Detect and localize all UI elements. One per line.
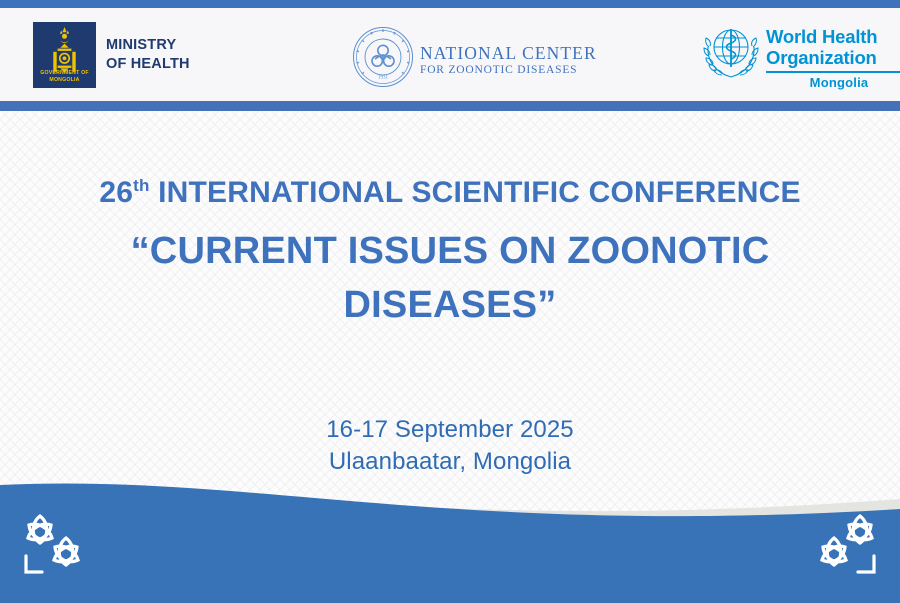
seal-year: 1931	[378, 76, 389, 81]
conference-line-label: INTERNATIONAL SCIENTIFIC CONFERENCE	[150, 176, 801, 209]
who-country-label: Mongolia	[766, 75, 900, 90]
ministry-emblem-caption-line2: MONGOLIA	[33, 77, 96, 84]
who-name-line1: World Health	[766, 26, 900, 47]
national-center-zoonotic-diseases-logo: 1931 NATIONAL CENTER FOR ZOONOTIC DISEAS…	[352, 26, 597, 93]
national-center-name-line2: FOR ZOONOTIC DISEASES	[420, 63, 597, 77]
mongolia-soyombo-emblem-icon: GOVERNMENT OF MONGOLIA	[33, 22, 96, 88]
title-block: 26th INTERNATIONAL SCIENTIFIC CONFERENCE…	[0, 172, 900, 332]
wave-blue-shape	[0, 483, 900, 603]
ministry-emblem-caption-line1: GOVERNMENT OF	[33, 70, 96, 77]
who-wordmark: World Health Organization Mongolia	[766, 23, 900, 90]
conference-title-slide: GOVERNMENT OF MONGOLIA MINISTRY OF HEALT…	[0, 0, 900, 603]
bottom-wave-decoration	[0, 463, 900, 603]
who-mongolia-logo: World Health Organization Mongolia	[702, 23, 900, 90]
who-rod-of-asclepius-emblem-icon	[702, 23, 760, 86]
ministry-of-health-name: MINISTRY OF HEALTH	[106, 36, 190, 74]
header-divider-bar	[0, 101, 900, 111]
event-dates: 16-17 September 2025	[0, 414, 900, 446]
conference-number-line: 26th INTERNATIONAL SCIENTIFIC CONFERENCE	[0, 172, 900, 214]
ministry-of-health-logo: GOVERNMENT OF MONGOLIA MINISTRY OF HEALT…	[33, 22, 190, 88]
conference-ordinal-suffix: th	[133, 176, 149, 195]
logo-row: GOVERNMENT OF MONGOLIA MINISTRY OF HEALT…	[0, 8, 900, 101]
ministry-name-line1: MINISTRY	[106, 36, 190, 55]
zoonotic-trefoil-seal-icon: 1931	[352, 26, 414, 93]
national-center-name: NATIONAL CENTER FOR ZOONOTIC DISEASES	[420, 43, 597, 77]
ministry-name-line2: OF HEALTH	[106, 55, 190, 74]
who-divider-rule	[766, 71, 900, 73]
conference-ordinal: 26	[99, 176, 133, 209]
top-accent-bar	[0, 0, 900, 8]
triquetra-knot-ornament-right-icon	[804, 508, 882, 583]
triquetra-knot-ornament-left-icon	[18, 508, 96, 583]
ministry-emblem-caption: GOVERNMENT OF MONGOLIA	[33, 70, 96, 84]
who-name-line2: Organization	[766, 47, 900, 68]
national-center-name-line1: NATIONAL CENTER	[420, 43, 597, 63]
conference-theme: “CURRENT ISSUES ON ZOONOTIC DISEASES”	[0, 224, 900, 332]
